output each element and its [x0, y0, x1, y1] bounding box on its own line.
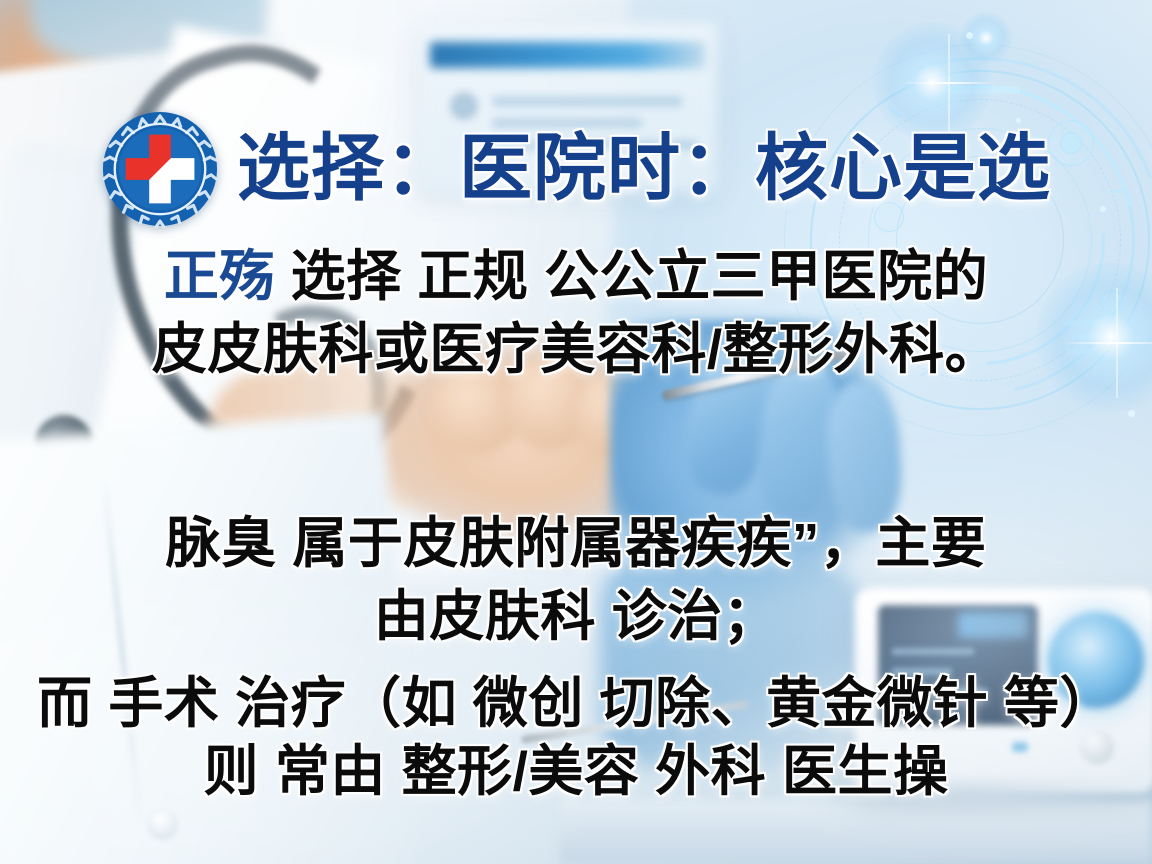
- body-line-text: 则 常由 整形/美容 外科 医生操: [204, 740, 949, 802]
- body-line-text: 皮皮肤科或医疗美容科/整形外科。: [152, 318, 1000, 380]
- body-line-text: 而 手术 治疗（如 微创 切除、黄金微针 等）: [37, 672, 1115, 734]
- body-line-text: 脉臭 属于皮肤附属器疾疾”，主要: [166, 512, 987, 574]
- body-line-highlight: 正殇: [164, 245, 275, 307]
- body-line: 而 手术 治疗（如 微创 切除、黄金微针 等）: [0, 672, 1152, 736]
- slide-content: 选择：医院时：核心是选 正殇 选择 正规 公公立三甲医院的 皮皮肤科或医疗美容科…: [0, 0, 1152, 864]
- body-line: 则 常由 整形/美容 外科 医生操: [0, 740, 1152, 804]
- body-line: 皮皮肤科或医疗美容科/整形外科。: [0, 318, 1152, 382]
- body-line: 脉臭 属于皮肤附属器疾疾”，主要: [0, 512, 1152, 576]
- hospital-cross-emblem-icon: [101, 110, 219, 228]
- body-line-text: 由皮肤科 诊治；: [374, 585, 778, 647]
- body-line: 正殇 选择 正规 公公立三甲医院的: [0, 245, 1152, 309]
- slide-canvas: 选择：医院时：核心是选 正殇 选择 正规 公公立三甲医院的 皮皮肤科或医疗美容科…: [0, 0, 1152, 864]
- body-line: 由皮肤科 诊治；: [0, 585, 1152, 649]
- headline-row: 选择：医院时：核心是选: [0, 110, 1152, 228]
- body-line-text: 选择 正规 公公立三甲医院的: [275, 245, 988, 307]
- page-title: 选择：医院时：核心是选: [237, 132, 1051, 206]
